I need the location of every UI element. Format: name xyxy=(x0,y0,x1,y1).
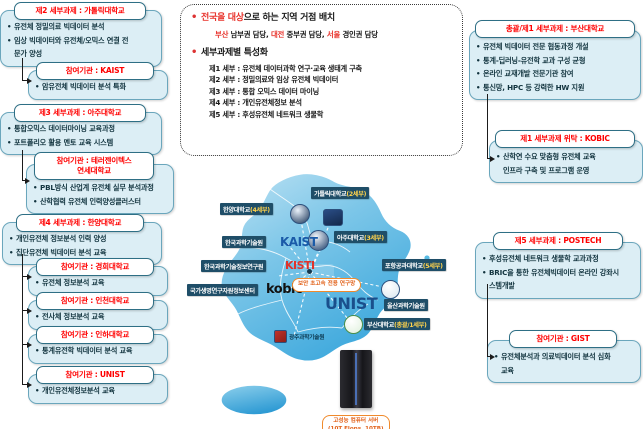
card-header-right-col-2[interactable]: 제5 세부과제 : POSTECH xyxy=(493,232,623,250)
connector-vertical xyxy=(487,94,488,158)
overview-bullet-1-red: 전국을 대상 xyxy=(201,13,244,23)
connector-arrowhead xyxy=(490,354,495,360)
card-item: 온라인 교재개발 전문기관 참여 xyxy=(476,69,635,80)
card-header-text: 참여기관 : 인천대학교 xyxy=(61,296,129,305)
connector-arrowhead xyxy=(25,178,30,184)
map-label-gist: 광주과학기술원 xyxy=(289,332,324,341)
card-header-text: 참여기관 : GIST xyxy=(536,334,589,343)
node-postech-emblem xyxy=(381,280,400,299)
overview-subtask-4: 제4 세부 : 개인유전체정보 분석 xyxy=(191,97,452,108)
card-right-col-2: 후성유전체 네트워크 생물학 교과과정BRIC을 통한 유전체빅데이터 온라인 … xyxy=(475,242,641,299)
region-seoul: 서울 xyxy=(327,30,340,39)
card-header-text: 제1 세부과제 위탁 : KOBIC xyxy=(520,134,609,143)
server-badge: 고성능 컴퓨터 서버 (10T Flops, 10TB) xyxy=(322,415,390,429)
card-item: 포트폴리오 활용 멘토 교육 시스템 xyxy=(7,138,156,149)
card-item: 암유전체 빅데이터 분석 특화 xyxy=(35,82,162,93)
kaist-logo: KAIST xyxy=(280,235,317,249)
card-header-text: 제5 세부과제 : POSTECH xyxy=(515,236,602,245)
card-item: 교육 xyxy=(494,366,635,377)
card-body: 유전체 빅데이터 전문 협동과정 개설통계-딥러닝-유전학 교과 구성 균형온라… xyxy=(470,31,640,99)
card-header-text: 참여기관 : UNIST xyxy=(65,370,124,379)
card-header-left-col-4[interactable]: 제4 세부과제 : 한양대학교 xyxy=(16,214,144,232)
overview-subtask-2: 제2 세부 : 정밀의료와 임상 유전체 빅데이터 xyxy=(191,74,452,85)
card-item: 통계유전학 빅데이터 분석 교육 xyxy=(35,346,162,357)
card-item: PBL방식 산업계 유전체 실무 분석과정 xyxy=(33,183,168,194)
card-item: 임상 빅데이터와 유전체/오믹스 연결 전 xyxy=(7,36,156,47)
map-label-catholic: 가톨릭대학교(2세부) xyxy=(311,187,369,199)
overview-bullet-1-rest: 으로 하는 지역 거점 배치 xyxy=(244,13,335,23)
card-item: 개인유전체정보분석 교육 xyxy=(35,386,162,397)
connector-arrowhead xyxy=(490,156,495,162)
card-header-right-col-1[interactable]: 제1 세부과제 위탁 : KOBIC xyxy=(495,130,635,148)
node-pusan-emblem xyxy=(344,315,363,334)
card-item: 스템개발 xyxy=(482,281,635,292)
overview-subtask-5: 제5 세부 : 후성유전체 네트워크 생물학 xyxy=(191,109,452,120)
card-right-col-0: 유전체 빅데이터 전문 협동과정 개설통계-딥러닝-유전학 교과 구성 균형온라… xyxy=(469,30,641,100)
region-daejeon: 대전 xyxy=(271,30,284,39)
card-item: 인프라 구축 및 프로그램 운영 xyxy=(496,166,637,177)
card-header-left-col-3[interactable]: 참여기관 : 테러젠이텍스연세대학교 xyxy=(34,152,154,180)
card-header-text: 총괄/제1 세부과제 : 부산대학교 xyxy=(506,24,604,33)
map-label-unist: 울산과학기술원 xyxy=(384,299,428,311)
node-catholic-emblem xyxy=(323,209,343,226)
connector-vertical xyxy=(487,284,488,356)
card-item: 유전체 빅데이터 전문 협동과정 개설 xyxy=(476,42,635,53)
card-header-left-col-0[interactable]: 제2 세부과제 : 가톨릭대학교 xyxy=(14,2,146,20)
map-label-kaist: 한국과학기술원 xyxy=(222,236,266,248)
map-label-kobic: 국가생명연구자원정보센터 xyxy=(187,284,258,296)
card-header-left-col-6[interactable]: 참여기관 : 인천대학교 xyxy=(36,292,154,310)
card-item: 통합오믹스 데이터마이닝 교육과정 xyxy=(7,124,156,135)
region-busan-desc: 남부권 담당, xyxy=(228,30,271,39)
overview-subtask-3: 제3 세부 : 통합 오믹스 데이터 마이닝 xyxy=(191,86,452,97)
card-item: 집단유전체 빅데이터 분석 교육 xyxy=(9,248,156,259)
connector-arrowhead xyxy=(27,78,32,84)
map-label-hanyang: 한양대학교(4세부) xyxy=(220,203,273,215)
overview-bullet-1: 전국을 대상으로 하는 지역 거점 배치 xyxy=(191,12,452,25)
kisti-logo: KISTI xyxy=(285,259,315,272)
overview-regions: 부산 남부권 담당, 대전 중부권 담당, 서울 경인권 담당 xyxy=(191,29,452,40)
card-item: BRIC을 통한 유전체빅데이터 온라인 강좌시 xyxy=(482,268,635,279)
card-header-left-col-5[interactable]: 참여기관 : 경희대학교 xyxy=(36,258,154,276)
card-header-text: 참여기관 : KAIST xyxy=(66,66,125,75)
server-light-strip xyxy=(355,353,357,404)
card-header-right-col-0[interactable]: 총괄/제1 세부과제 : 부산대학교 xyxy=(475,20,635,38)
connector-vertical xyxy=(22,254,23,384)
connector-vertical xyxy=(22,58,23,80)
server-badge-line2: (10T Flops, 10TB) xyxy=(328,426,384,429)
connector-arrowhead xyxy=(27,342,32,348)
connector-arrowhead xyxy=(27,382,32,388)
map-label-ajou: 아주대학교(3세부) xyxy=(334,231,387,243)
card-item: 산학연 수요 맞춤형 유전체 교육 xyxy=(496,152,637,163)
card-item: 유전체 정보분석 교육 xyxy=(35,278,162,289)
server-badge-line1: 고성능 컴퓨터 서버 xyxy=(328,418,384,426)
card-body: 후성유전체 네트워크 생물학 교과과정BRIC을 통한 유전체빅데이터 온라인 … xyxy=(476,243,640,298)
card-header-left-col-8[interactable]: 참여기관 : UNIST xyxy=(36,366,154,384)
map-label-pusan: 부산대학교(총괄/1세부) xyxy=(364,318,430,330)
card-header-text: 제2 세부과제 : 가톨릭대학교 xyxy=(35,6,124,15)
connector-vertical xyxy=(22,150,23,180)
card-header-text: 참여기관 : 인하대학교 xyxy=(61,330,129,339)
card-header-text: 제4 세부과제 : 한양대학교 xyxy=(39,218,121,227)
card-header-left-col-7[interactable]: 참여기관 : 인하대학교 xyxy=(36,326,154,344)
unist-logo: UNIST xyxy=(325,294,377,313)
region-busan: 부산 xyxy=(215,30,228,39)
node-gist-emblem xyxy=(274,330,287,343)
card-header-left-col-2[interactable]: 제3 세부과제 : 아주대학교 xyxy=(14,104,146,122)
connector-arrowhead xyxy=(27,308,32,314)
server-illustration xyxy=(340,350,372,408)
card-item: 산학협력 유전체 인력양성클러스터 xyxy=(33,197,168,208)
connector-arrowhead xyxy=(27,274,32,280)
card-item: 전사체 정보분석 교육 xyxy=(35,312,162,323)
diagram-root: 전국을 대상으로 하는 지역 거점 배치 부산 남부권 담당, 대전 중부권 담… xyxy=(0,0,643,429)
overview-panel: 전국을 대상으로 하는 지역 거점 배치 부산 남부권 담당, 대전 중부권 담… xyxy=(180,4,463,156)
overview-bullet-2: 세부과제별 특성화 xyxy=(191,47,452,60)
map-label-kisti: 한국과학기술정보연구원 xyxy=(201,260,266,272)
korea-map: KAIST KISTI kobic UNIST 가톨릭대학교(2세부) 한양대학… xyxy=(182,172,472,427)
card-header-text-2: 연세대학교 xyxy=(77,166,111,175)
card-item: 통신망, HPC 등 강력한 HW 지원 xyxy=(476,83,635,94)
card-item: 유전체 정밀의료 빅데이터 분석 xyxy=(7,22,156,33)
card-item: 개인유전체 정보분석 인력 양성 xyxy=(9,234,156,245)
card-item: 문가 양성 xyxy=(7,49,156,60)
map-label-postech: 포항공과대학교(5세부) xyxy=(382,259,446,271)
card-item: 통계-딥러닝-유전학 교과 구성 균형 xyxy=(476,56,635,67)
card-item: 후성유전체 네트워크 생물학 교과과정 xyxy=(482,254,635,265)
card-item: 유전체분석과 의료빅데이터 분석 심화 xyxy=(494,352,635,363)
card-header-right-col-3[interactable]: 참여기관 : GIST xyxy=(509,330,617,348)
card-header-left-col-1[interactable]: 참여기관 : KAIST xyxy=(36,62,154,80)
node-hanyang-emblem xyxy=(290,204,310,224)
region-seoul-desc: 경인권 담당 xyxy=(340,30,378,39)
region-daejeon-desc: 중부권 담당, xyxy=(284,30,327,39)
overview-subtask-1: 제1 세부 : 유전체 데이터과학 연구·교육 생태계 구축 xyxy=(191,63,452,74)
card-header-text: 제3 세부과제 : 아주대학교 xyxy=(39,108,121,117)
overview-subtask-list: 제1 세부 : 유전체 데이터과학 연구·교육 생태계 구축제2 세부 : 정밀… xyxy=(191,63,452,120)
card-header-text: 참여기관 : 테러젠이텍스 xyxy=(57,156,132,165)
card-header-text: 참여기관 : 경희대학교 xyxy=(61,262,129,271)
network-badge: 보안 초고속 전용 연구망 xyxy=(292,278,361,292)
